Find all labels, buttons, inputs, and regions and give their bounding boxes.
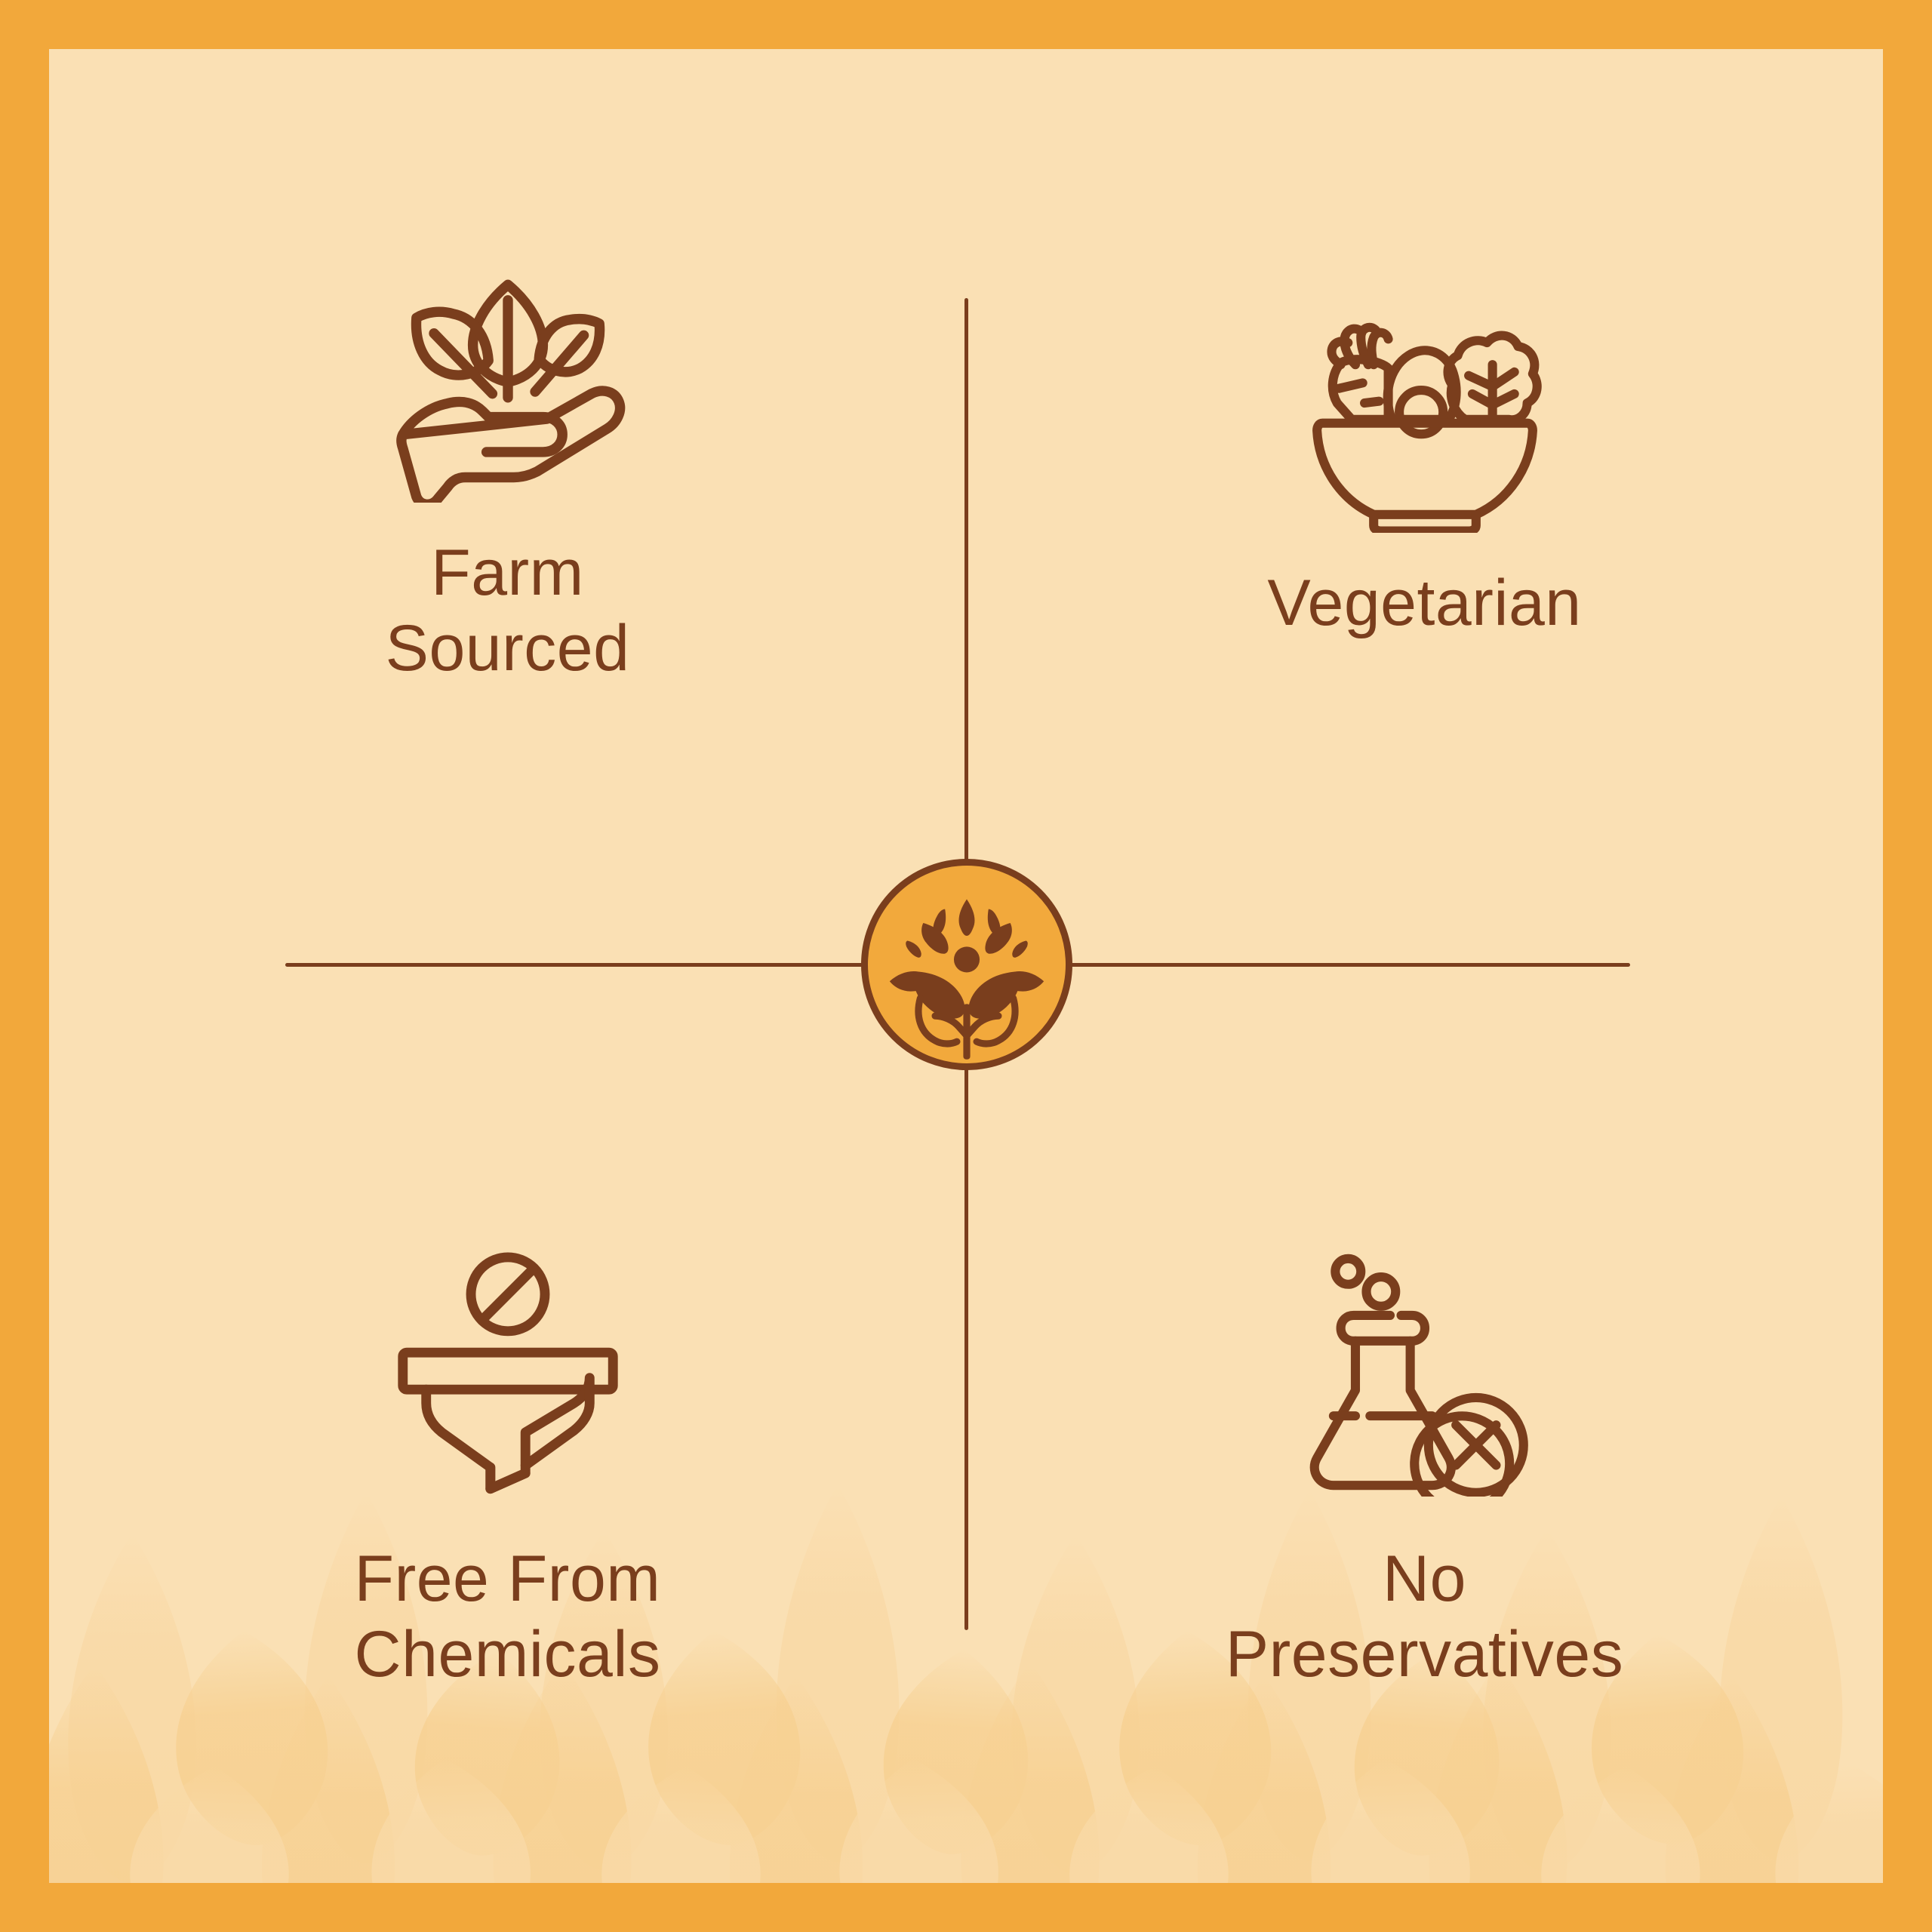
feature-item-vegetarian: Vegetarian <box>966 49 1883 966</box>
flask-cross-icon <box>1308 1247 1542 1497</box>
brand-badge[interactable] <box>861 859 1072 1070</box>
funnel-no-entry-icon <box>383 1247 632 1497</box>
feature-label-vegetarian: Vegetarian <box>1267 566 1581 641</box>
feature-label-no-preservatives: No Preservatives <box>1226 1542 1623 1693</box>
vegetable-bowl-icon <box>1308 299 1542 533</box>
feature-label-farm-sourced: Farm Sourced <box>386 536 630 687</box>
feature-item-no-preservatives: No Preservatives <box>966 966 1883 1883</box>
card-frame: Farm Sourced <box>49 49 1883 1883</box>
lotus-plant-in-hands-logo-icon <box>868 866 1066 1063</box>
feature-item-farm-sourced: Farm Sourced <box>49 49 966 966</box>
feature-label-free-from-chemicals: Free From Chemicals <box>355 1542 661 1693</box>
hand-holding-plant-icon <box>383 254 632 503</box>
feature-item-free-from-chemicals: Free From Chemicals <box>49 966 966 1883</box>
